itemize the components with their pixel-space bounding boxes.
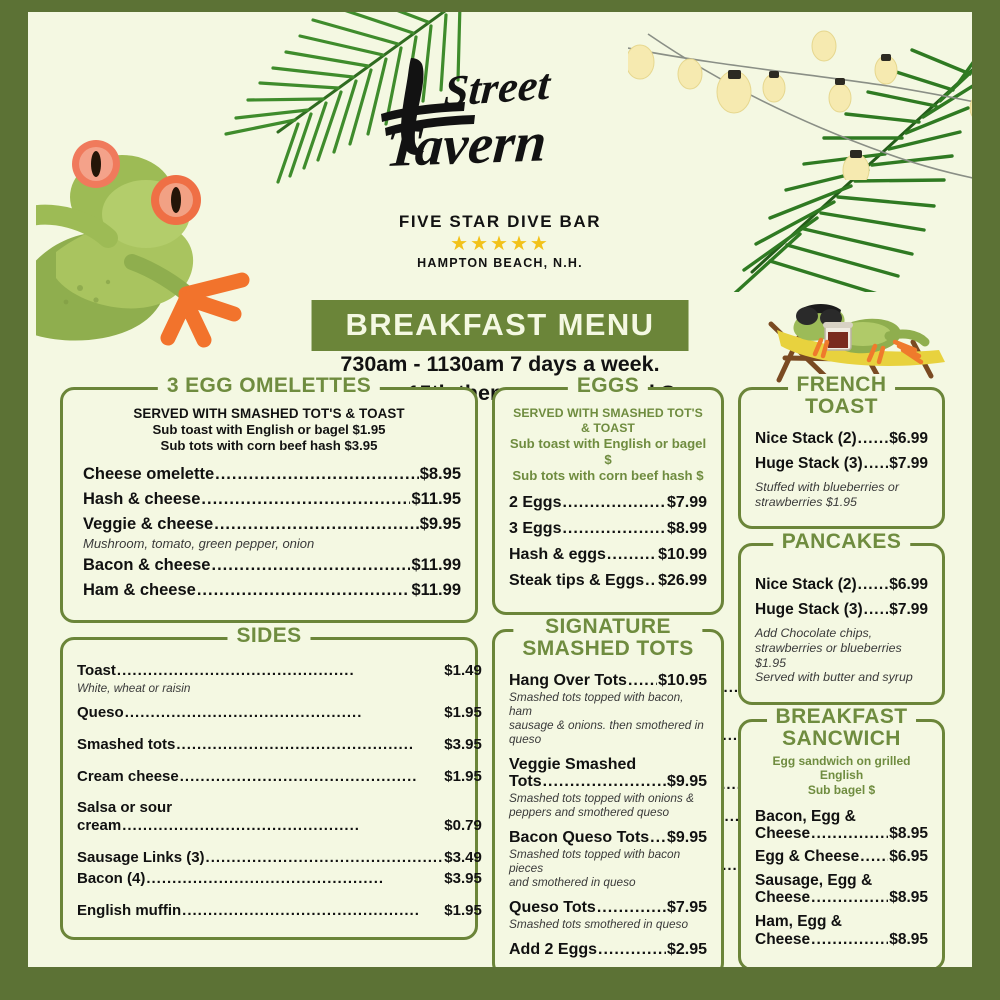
desc-line-1: Smashed tots topped with bacon pieces xyxy=(509,847,680,875)
item-list: Bacon, Egg & Cheese ....................… xyxy=(755,808,928,949)
menu-item: cream ..................................… xyxy=(77,817,482,834)
section-subtitle: SERVED WITH SMASHED TOT'S & TOAST Sub to… xyxy=(509,406,707,484)
dot-leader: .............................. xyxy=(858,576,889,594)
item-name: Tots xyxy=(509,773,542,791)
item-list: Cheese omelette ........................… xyxy=(77,465,461,600)
item-name: Hash & cheese xyxy=(83,490,200,509)
section-subtitle: SERVED WITH SMASHED TOT'S & TOAST Sub to… xyxy=(77,406,461,455)
section-title-line-1: FRENCH xyxy=(797,373,887,396)
menu-item: Cream cheese ...........................… xyxy=(77,768,482,785)
sides-column-left: Toast ..................................… xyxy=(77,662,482,923)
item-name: Smashed tots xyxy=(77,736,175,753)
item-price: $1.95 xyxy=(444,768,482,785)
dot-leader: ........................................… xyxy=(206,849,444,866)
item-description: Smashed tots smothered in queso xyxy=(509,918,707,932)
dot-leader: ........................................… xyxy=(146,870,443,887)
item-price: $8.95 xyxy=(889,931,928,949)
dot-leader: ........................................… xyxy=(211,556,410,575)
dot-leader: ...................................... xyxy=(598,941,666,959)
menu-item: Tots ...................................… xyxy=(509,773,707,791)
menu-item: Cheese .............................. $8… xyxy=(755,889,928,907)
desc-line-1: Smashed tots topped with onions & xyxy=(509,791,694,805)
item-list: Nice Stack (2) .........................… xyxy=(755,576,928,685)
item-price: $11.99 xyxy=(411,581,461,600)
dot-leader: ........................................… xyxy=(182,902,443,919)
section-french-toast: FRENCH TOAST Nice Stack (2) ............… xyxy=(738,387,945,529)
menu-item: 3 Eggs .................................… xyxy=(509,520,707,538)
item-price: $10.95 xyxy=(658,672,707,690)
item-price: $9.95 xyxy=(420,515,461,534)
item-price: $0.79 xyxy=(444,817,482,834)
desc-line-1: Smashed tots topped with bacon, ham xyxy=(509,690,683,718)
menu-item: Bacon & cheese .........................… xyxy=(83,556,461,575)
item-price: $2.95 xyxy=(667,941,707,959)
item-description: Mushroom, tomato, green pepper, onion xyxy=(83,536,461,551)
subtitle-line-2: Sub bagel $ xyxy=(755,783,928,798)
section-subtitle: Egg sandwich on grilled English Sub bage… xyxy=(755,754,928,798)
item-price: $1.49 xyxy=(444,662,482,679)
note-line-1: Add Chocolate chips, xyxy=(755,626,872,640)
dot-leader: ........................................… xyxy=(125,704,444,721)
section-omelettes: 3 EGG OMELETTES SERVED WITH SMASHED TOT'… xyxy=(60,387,478,623)
item-description: Smashed tots topped with bacon, ham saus… xyxy=(509,691,707,747)
dot-leader: ........................................… xyxy=(215,465,419,484)
dot-leader: ........................................… xyxy=(180,768,444,785)
dot-leader: ........................................… xyxy=(214,515,418,534)
item-description: White, wheat or raisin xyxy=(77,682,482,696)
item-price: $11.99 xyxy=(411,556,461,575)
item-name: Cheese xyxy=(755,825,810,843)
menu-item: Sausage Links (3) ......................… xyxy=(77,849,482,866)
dot-leader: .............................. xyxy=(811,825,888,843)
menu-item: Hash & cheese ..........................… xyxy=(83,490,461,509)
dot-leader: ........................................… xyxy=(122,817,443,834)
dot-leader: ........................................… xyxy=(117,662,443,679)
item-name: Cheese xyxy=(755,889,810,907)
section-smashed-tots: SIGNATURE SMASHED TOTS Hang Over Tots ..… xyxy=(492,629,724,967)
section-title: SIGNATURE SMASHED TOTS xyxy=(513,616,702,660)
item-name: Veggie & cheese xyxy=(83,515,213,534)
item-description: Smashed tots topped with onions & pepper… xyxy=(509,792,707,820)
menu-item: Hang Over Tots .........................… xyxy=(509,672,707,690)
item-name: Salsa or sour xyxy=(77,800,482,817)
svg-text:Street: Street xyxy=(442,60,553,116)
dot-leader: .............................. xyxy=(864,455,889,473)
desc-line-2: sausage & onions. then smothered in ques… xyxy=(509,718,704,746)
section-title-line-2: SMASHED TOTS xyxy=(522,637,693,660)
menu-item: Add 2 Eggs .............................… xyxy=(509,941,707,959)
item-price: $8.95 xyxy=(889,825,928,843)
subtitle-main: SERVED WITH SMASHED TOT'S & TOAST xyxy=(509,406,707,436)
item-name: cream xyxy=(77,817,121,834)
item-name: Queso xyxy=(77,704,124,721)
section-title: BREAKFAST SANCWICH xyxy=(767,706,917,750)
desc-line-2: and smothered in queso xyxy=(509,875,636,889)
item-price: $1.95 xyxy=(444,902,482,919)
menu-columns: 3 EGG OMELETTES SERVED WITH SMASHED TOT'… xyxy=(60,387,945,967)
item-name: Steak tips & Eggs xyxy=(509,572,644,590)
menu-item: Queso Tots .............................… xyxy=(509,899,707,917)
menu-item: Veggie & cheese ........................… xyxy=(83,515,461,534)
item-price: $6.99 xyxy=(889,430,928,448)
item-name: Bacon & cheese xyxy=(83,556,210,575)
menu-item: Toast ..................................… xyxy=(77,662,482,679)
item-name: Cheese omelette xyxy=(83,465,214,484)
item-name: Veggie Smashed xyxy=(509,756,707,774)
item-name: Sausage, Egg & xyxy=(755,872,928,889)
section-eggs: EGGS SERVED WITH SMASHED TOT'S & TOAST S… xyxy=(492,387,724,615)
item-price: $8.99 xyxy=(667,520,707,538)
dot-leader: ................................... xyxy=(645,572,657,590)
dot-leader: ...................................... xyxy=(628,672,657,690)
subtitle-line-1: Sub toast with English or bagel $1.95 xyxy=(77,422,461,438)
dot-leader: ................................... xyxy=(562,494,665,512)
item-price: $6.99 xyxy=(889,576,928,594)
dot-leader: ...................................... xyxy=(650,829,666,847)
item-list: Nice Stack (2) .........................… xyxy=(755,430,928,509)
dot-leader: ...................................... xyxy=(543,773,666,791)
item-name: Bacon (4) xyxy=(77,870,145,887)
subtitle-line-1: Egg sandwich on grilled English xyxy=(755,754,928,783)
banner-title: BREAKFAST MENU xyxy=(346,309,655,340)
item-name: Nice Stack (2) xyxy=(755,430,857,448)
column-middle: EGGS SERVED WITH SMASHED TOT'S & TOAST S… xyxy=(492,387,724,967)
section-title: FRENCH TOAST xyxy=(788,374,896,418)
item-price: $9.95 xyxy=(667,773,707,791)
section-note: Stuffed with blueberries or strawberries… xyxy=(755,480,928,509)
section-pancakes: PANCAKES Nice Stack (2) ................… xyxy=(738,543,945,705)
item-name: Add 2 Eggs xyxy=(509,941,597,959)
dot-leader: .............................. xyxy=(864,601,889,619)
menu-item: Hash & eggs ............................… xyxy=(509,546,707,564)
dot-leader: ........................................… xyxy=(176,736,443,753)
section-title: 3 EGG OMELETTES xyxy=(158,375,380,397)
menu-item: Nice Stack (2) .........................… xyxy=(755,430,928,448)
dot-leader: .............................. xyxy=(858,430,889,448)
dot-leader: ........................................… xyxy=(201,490,410,509)
item-name: Cheese xyxy=(755,931,810,949)
menu-item: Ham & cheese ...........................… xyxy=(83,581,461,600)
item-price: $26.99 xyxy=(658,572,707,590)
sides-grid: Toast ..................................… xyxy=(77,662,461,923)
menu-item: English muffin .........................… xyxy=(77,902,482,919)
menu-item: Egg & Cheese ...........................… xyxy=(755,848,928,866)
menu-item: Queso ..................................… xyxy=(77,704,482,721)
menu-item: Smashed tots ...........................… xyxy=(77,736,482,753)
item-price: $8.95 xyxy=(420,465,461,484)
item-name: 2 Eggs xyxy=(509,494,561,512)
item-name: Ham & cheese xyxy=(83,581,196,600)
item-list: 2 Eggs .................................… xyxy=(509,494,707,590)
item-name: Huge Stack (3) xyxy=(755,455,863,473)
item-price: $3.95 xyxy=(444,736,482,753)
column-right: FRENCH TOAST Nice Stack (2) ............… xyxy=(738,387,945,967)
item-name: Toast xyxy=(77,662,116,679)
section-title-line-2: SANCWICH xyxy=(782,727,901,750)
item-price: $3.49 xyxy=(444,849,482,866)
section-note: Add Chocolate chips, strawberries or blu… xyxy=(755,626,928,685)
item-name: Hang Over Tots xyxy=(509,672,627,690)
breakfast-menu-banner: BREAKFAST MENU xyxy=(312,300,689,351)
menu-item: Huge Stack (3) .........................… xyxy=(755,455,928,473)
note-line-3: Served with butter and syrup xyxy=(755,670,913,684)
item-price: $7.99 xyxy=(667,494,707,512)
menu-item: Bacon (4) ..............................… xyxy=(77,870,482,887)
subtitle-main: SERVED WITH SMASHED TOT'S & TOAST xyxy=(77,406,461,422)
brand-tagline: FIVE STAR DIVE BAR xyxy=(28,212,972,232)
item-price: $1.95 xyxy=(444,704,482,721)
svg-text:Tavern: Tavern xyxy=(384,112,549,179)
dot-leader: ................................... xyxy=(562,520,665,538)
item-name: Nice Stack (2) xyxy=(755,576,857,594)
brand-logo: Street Tavern FIVE STAR DIVE BAR ★★★★★ H… xyxy=(28,50,972,270)
menu-item: Cheese omelette ........................… xyxy=(83,465,461,484)
item-price: $7.99 xyxy=(889,455,928,473)
item-price: $6.95 xyxy=(889,848,928,866)
menu-page: Street Tavern FIVE STAR DIVE BAR ★★★★★ H… xyxy=(0,0,1000,1000)
menu-item: Bacon Queso Tots .......................… xyxy=(509,829,707,847)
section-title: EGGS xyxy=(568,375,648,397)
star-icon: ★★★★★ xyxy=(28,233,972,255)
item-name: 3 Eggs xyxy=(509,520,561,538)
section-title: PANCAKES xyxy=(773,531,911,553)
menu-item: Huge Stack (3) .........................… xyxy=(755,601,928,619)
subtitle-line-2: Sub tots with corn beef hash $ xyxy=(509,468,707,484)
brand-location: HAMPTON BEACH, N.H. xyxy=(28,256,972,270)
dot-leader: ...................................... xyxy=(597,899,666,917)
note-line-2: strawberries $1.95 xyxy=(755,495,857,509)
menu-item: Steak tips & Eggs ......................… xyxy=(509,572,707,590)
section-title-line-1: SIGNATURE xyxy=(545,615,671,638)
item-name: Queso Tots xyxy=(509,899,596,917)
section-breakfast-sandwich: BREAKFAST SANCWICH Egg sandwich on grill… xyxy=(738,719,945,967)
item-price: $8.95 xyxy=(889,889,928,907)
item-list: Hang Over Tots .........................… xyxy=(509,672,707,959)
item-price: $7.99 xyxy=(889,601,928,619)
item-name: Sausage Links (3) xyxy=(77,849,205,866)
item-name: Huge Stack (3) xyxy=(755,601,863,619)
section-title-line-2: TOAST xyxy=(805,395,878,418)
item-price: $7.95 xyxy=(667,899,707,917)
dot-leader: .............................. xyxy=(811,889,888,907)
item-name: Ham, Egg & xyxy=(755,913,928,930)
item-description: Smashed tots topped with bacon pieces an… xyxy=(509,848,707,890)
dot-leader: ................................... xyxy=(607,546,657,564)
column-left: 3 EGG OMELETTES SERVED WITH SMASHED TOT'… xyxy=(60,387,478,967)
menu-item: Cheese .............................. $8… xyxy=(755,931,928,949)
section-sides: SIDES Toast ............................… xyxy=(60,637,478,940)
note-line-2: strawberries or blueberries $1.95 xyxy=(755,641,902,670)
item-name: Bacon Queso Tots xyxy=(509,829,649,847)
item-price: $3.95 xyxy=(444,870,482,887)
desc-line-2: peppers and smothered queso xyxy=(509,805,669,819)
subtitle-line-1: Sub toast with English or bagel $ xyxy=(509,436,707,468)
menu-item: 2 Eggs .................................… xyxy=(509,494,707,512)
item-name: Cream cheese xyxy=(77,768,179,785)
item-name: English muffin xyxy=(77,902,181,919)
menu-item: Nice Stack (2) .........................… xyxy=(755,576,928,594)
note-line-1: Stuffed with blueberries or xyxy=(755,480,899,494)
item-name: Egg & Cheese xyxy=(755,848,859,866)
item-name: Bacon, Egg & xyxy=(755,808,928,825)
section-title-line-1: BREAKFAST xyxy=(776,705,908,728)
item-price: $9.95 xyxy=(667,829,707,847)
menu-sheet: Street Tavern FIVE STAR DIVE BAR ★★★★★ H… xyxy=(28,12,972,967)
dot-leader: .............................. xyxy=(860,848,888,866)
item-price: $10.99 xyxy=(658,546,707,564)
l-street-tavern-wordmark: Street Tavern xyxy=(375,50,625,210)
subtitle-line-2: Sub tots with corn beef hash $3.95 xyxy=(77,438,461,454)
item-price: $11.95 xyxy=(411,490,461,509)
dot-leader: .............................. xyxy=(811,931,888,949)
dot-leader: ........................................… xyxy=(197,581,411,600)
section-title: SIDES xyxy=(227,625,310,647)
item-name: Hash & eggs xyxy=(509,546,606,564)
menu-item: Cheese .............................. $8… xyxy=(755,825,928,843)
